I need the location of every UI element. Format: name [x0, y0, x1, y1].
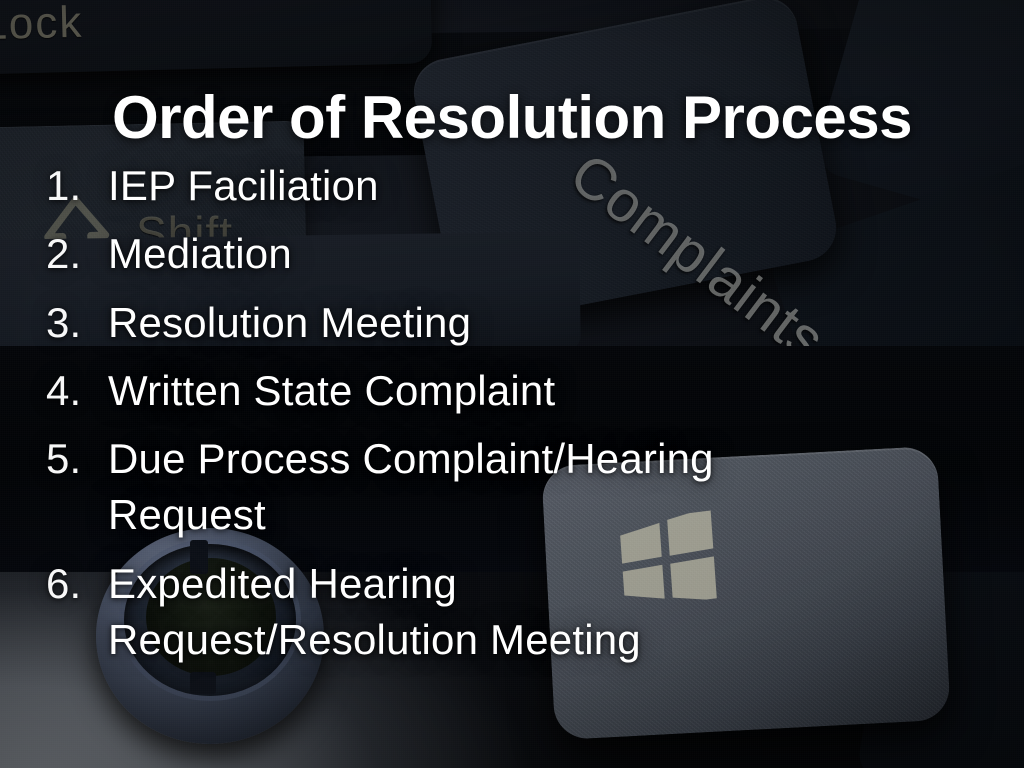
- list-item-label: Expedited Hearing Request/Resolution Mee…: [108, 556, 828, 669]
- list-item: 6. Expedited Hearing Request/Resolution …: [46, 556, 926, 669]
- list-item-label: Written State Complaint: [108, 363, 828, 419]
- list-item-label: IEP Faciliation: [108, 158, 828, 214]
- list-item-number: 2.: [46, 226, 108, 282]
- resolution-process-list: 1. IEP Faciliation 2. Mediation 3. Resol…: [46, 158, 926, 680]
- list-item-number: 5.: [46, 431, 108, 487]
- list-item: 1. IEP Faciliation: [46, 158, 926, 214]
- list-item-number: 6.: [46, 556, 108, 612]
- list-item: 4. Written State Complaint: [46, 363, 926, 419]
- slide-content: Order of Resolution Process 1. IEP Facil…: [0, 0, 1024, 768]
- list-item: 5. Due Process Complaint/Hearing Request: [46, 431, 926, 544]
- list-item-number: 1.: [46, 158, 108, 214]
- presentation-slide: Lock Complaints Shift: [0, 0, 1024, 768]
- list-item-number: 3.: [46, 295, 108, 351]
- slide-title: Order of Resolution Process: [0, 86, 1024, 149]
- list-item-number: 4.: [46, 363, 108, 419]
- list-item-label: Mediation: [108, 226, 828, 282]
- list-item: 3. Resolution Meeting: [46, 295, 926, 351]
- list-item: 2. Mediation: [46, 226, 926, 282]
- list-item-label: Due Process Complaint/Hearing Request: [108, 431, 828, 544]
- list-item-label: Resolution Meeting: [108, 295, 828, 351]
